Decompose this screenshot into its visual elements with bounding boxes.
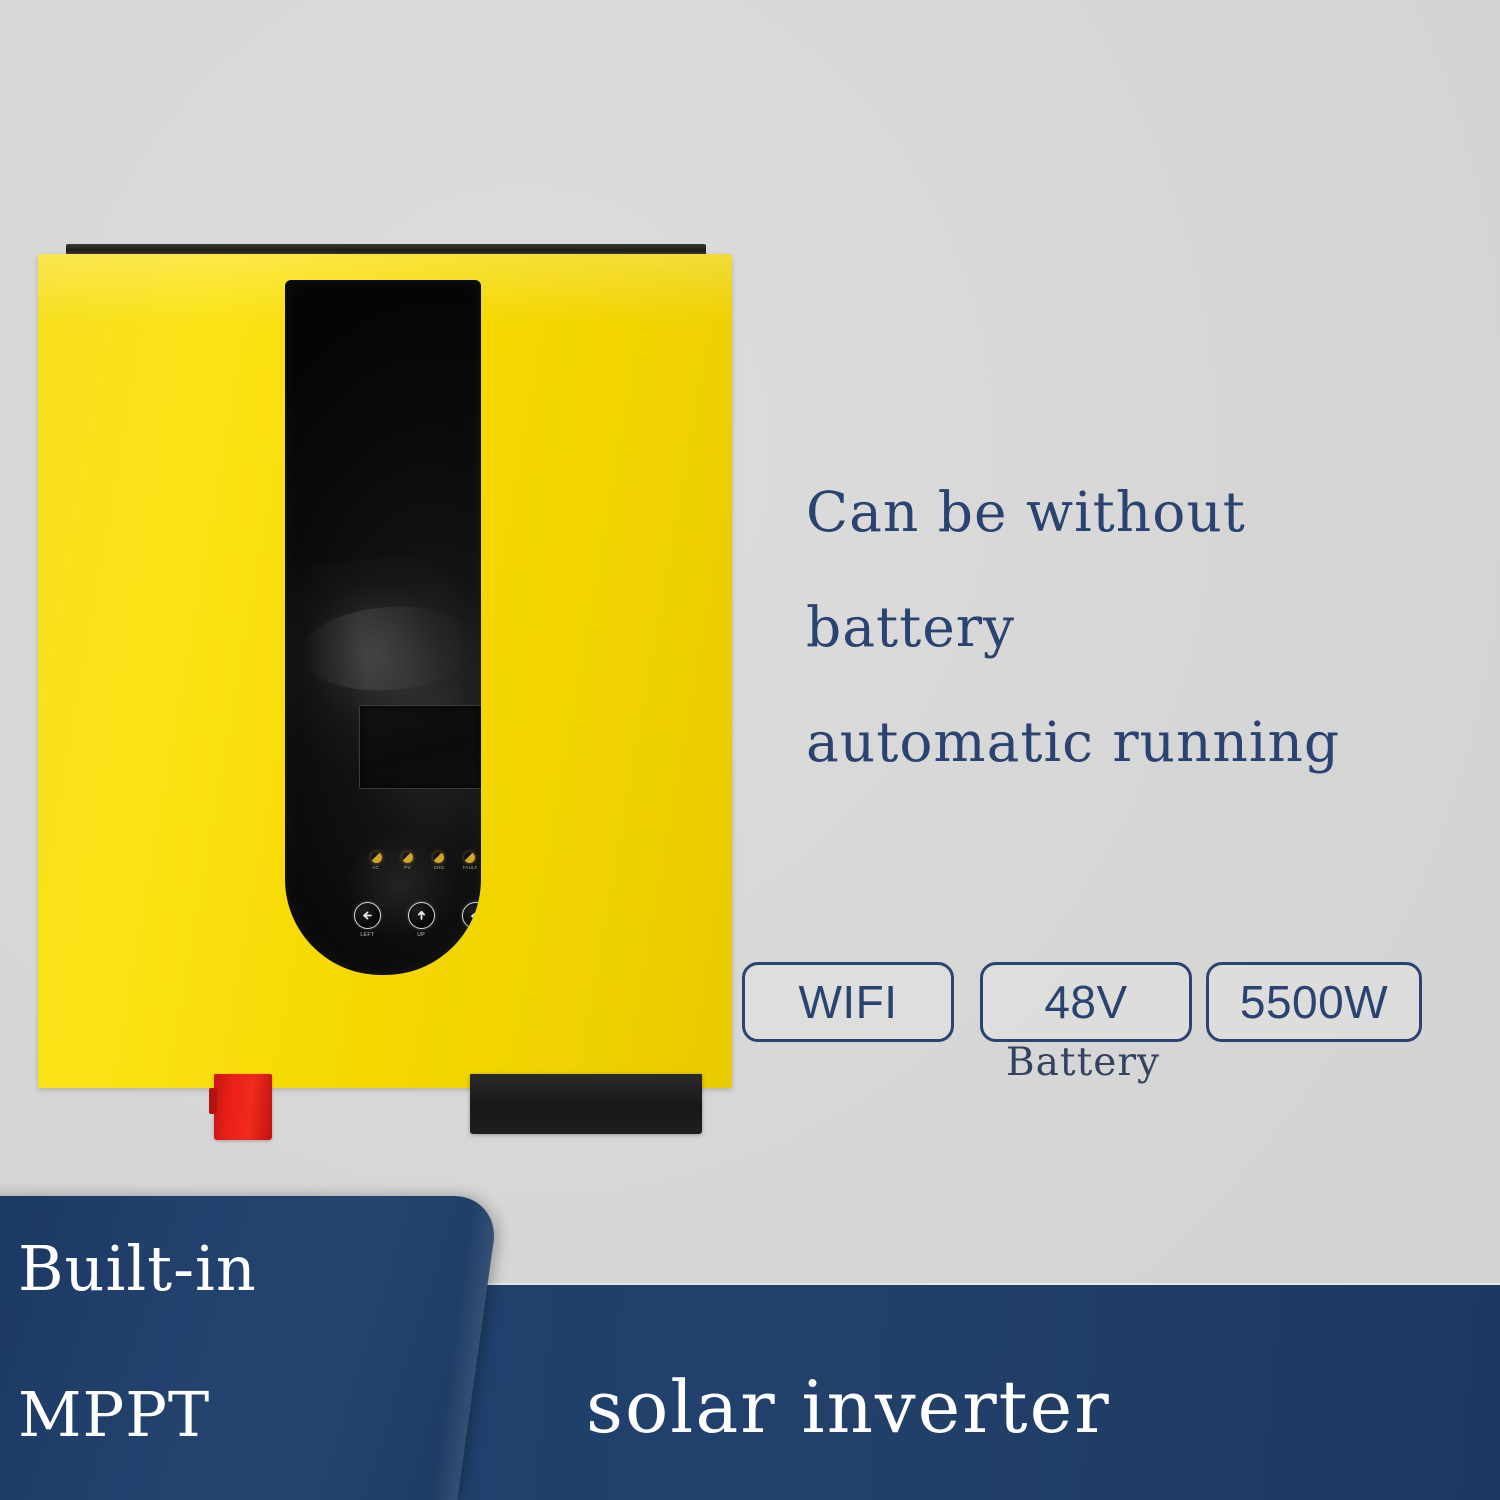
device-button-row: LEFT UP ENTER [347, 902, 481, 938]
badge-battery-voltage: 48V [980, 962, 1192, 1042]
banner-left-line-1: Built-in [18, 1232, 257, 1305]
led-indicator-pv: PV [394, 852, 420, 871]
led-label: PV [404, 865, 411, 871]
lcd-screen [359, 705, 481, 789]
led-label: FAULT [463, 865, 478, 871]
banner-left-text: Built-in MPPT [0, 1196, 540, 1500]
product-marketing-image: AC PV CHG FAULT [0, 0, 1500, 1500]
spec-badge-row: WIFI 48V 5500W Battery [742, 962, 1432, 1092]
solar-inverter-device: AC PV CHG FAULT [38, 240, 732, 1088]
device-button-label: UP [417, 932, 425, 938]
led-indicator-row: AC PV CHG FAULT [363, 852, 481, 871]
headline-line-1: Can be without [806, 455, 1446, 570]
device-button-up[interactable]: UP [401, 902, 441, 938]
badge-wifi: WIFI [742, 962, 954, 1042]
black-base-block [470, 1074, 702, 1134]
device-button-enter[interactable]: ENTER [455, 902, 481, 938]
led-dot-icon [402, 852, 413, 863]
device-button-left[interactable]: LEFT [347, 902, 387, 938]
led-indicator-chg: CHG [426, 852, 452, 871]
headline-text: Can be without battery automatic running [806, 455, 1446, 800]
banner-left-line-2: MPPT [18, 1378, 210, 1451]
badge-power-rating: 5500W [1206, 962, 1422, 1042]
led-indicator-ac: AC [363, 852, 389, 871]
led-dot-icon [464, 852, 475, 863]
badge-battery-caption: Battery [980, 1040, 1186, 1085]
device-button-label: ENTER [465, 932, 481, 938]
red-dc-terminal [214, 1074, 272, 1140]
led-dot-icon [371, 852, 382, 863]
bottom-banner: Built-in MPPT solar inverter [0, 1190, 1500, 1500]
arrow-up-icon[interactable] [408, 902, 435, 929]
device-button-label: LEFT [360, 932, 374, 938]
panel-gloss-reflection-b [298, 601, 480, 696]
enter-return-icon[interactable] [462, 902, 482, 929]
headline-line-2: battery [806, 570, 1446, 685]
arrow-left-icon[interactable] [354, 902, 381, 929]
device-control-panel: AC PV CHG FAULT [285, 280, 481, 975]
banner-right-text: solar inverter [586, 1365, 1111, 1449]
headline-line-3: automatic running [806, 685, 1446, 800]
led-dot-icon [433, 852, 444, 863]
led-label: AC [373, 865, 380, 871]
led-label: CHG [433, 865, 444, 871]
led-indicator-fault: FAULT [457, 852, 481, 871]
